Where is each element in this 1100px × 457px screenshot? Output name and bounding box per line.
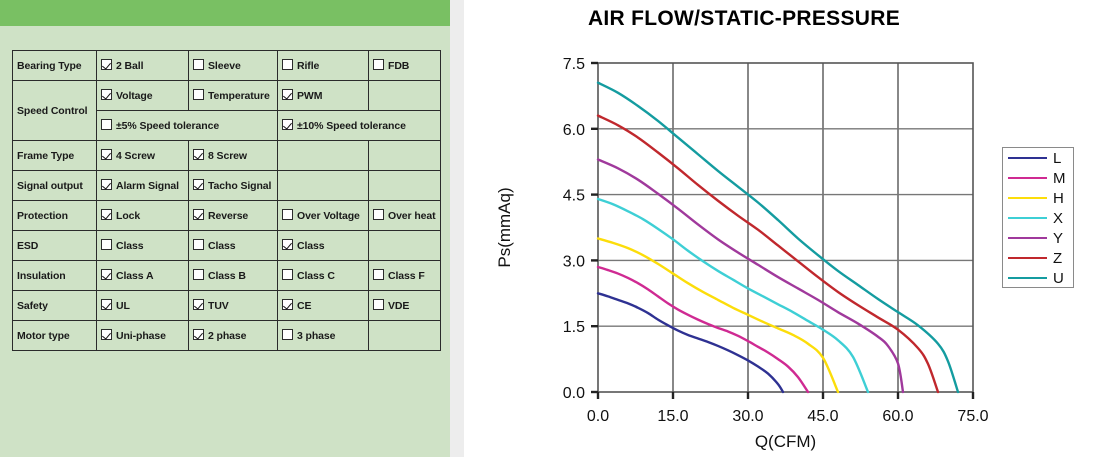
table-row: ESDClassClassClass — [13, 231, 441, 261]
spec-row-label: Insulation — [13, 261, 97, 291]
spec-option-label: 8 Screw — [208, 150, 247, 162]
legend-item-Y: Y — [1003, 228, 1073, 248]
x-tick-label: 45.0 — [807, 408, 838, 425]
y-tick-label: 6.0 — [563, 122, 585, 139]
spec-empty-cell — [369, 321, 441, 351]
spec-option-cell[interactable]: Reverse — [189, 201, 278, 231]
table-row: Bearing Type2 BallSleeveRifleFDB — [13, 51, 441, 81]
series-curve-H — [598, 238, 838, 392]
x-tick-label: 60.0 — [882, 408, 913, 425]
checkbox-checked-icon[interactable] — [282, 239, 293, 250]
spec-option-label: Temperature — [208, 90, 270, 102]
legend-label: H — [1053, 191, 1064, 206]
panel-divider — [450, 0, 464, 457]
spec-option-cell[interactable]: Temperature — [189, 81, 278, 111]
table-row: Speed ControlVoltageTemperaturePWM — [13, 81, 441, 111]
checkbox-checked-icon[interactable] — [282, 119, 293, 130]
y-tick-label: 0.0 — [563, 385, 585, 402]
spec-option-cell[interactable]: Voltage — [97, 81, 189, 111]
spec-option-cell[interactable]: Over heat — [369, 201, 441, 231]
spec-option-cell[interactable]: Over Voltage — [278, 201, 369, 231]
checkbox-checked-icon[interactable] — [282, 299, 293, 310]
spec-option-cell[interactable]: 2 Ball — [97, 51, 189, 81]
spec-option-cell[interactable]: 2 phase — [189, 321, 278, 351]
spec-option-label: Class C — [297, 270, 335, 282]
table-row: InsulationClass AClass BClass CClass F — [13, 261, 441, 291]
checkbox-checked-icon[interactable] — [101, 329, 112, 340]
spec-option-cell[interactable]: UL — [97, 291, 189, 321]
legend-item-M: M — [1003, 168, 1073, 188]
specification-table: Bearing Type2 BallSleeveRifleFDBSpeed Co… — [12, 50, 441, 351]
legend-label: L — [1053, 151, 1061, 166]
spec-option-label: Class F — [388, 270, 425, 282]
spec-option-cell[interactable]: Class — [97, 231, 189, 261]
table-row: Motor typeUni-phase2 phase3 phase — [13, 321, 441, 351]
spec-option-label: Reverse — [208, 210, 248, 222]
y-tick-label: 1.5 — [563, 319, 585, 336]
spec-option-label: TUV — [208, 300, 229, 312]
checkbox-checked-icon[interactable] — [101, 299, 112, 310]
checkbox-checked-icon[interactable] — [193, 209, 204, 220]
legend-line-swatch-icon — [1008, 177, 1047, 179]
chart-legend: LMHXYZU — [1002, 147, 1074, 288]
checkbox-checked-icon[interactable] — [193, 329, 204, 340]
y-axis-tick-labels: 0.01.53.04.56.07.5 — [563, 56, 585, 402]
spec-option-cell[interactable]: Alarm Signal — [97, 171, 189, 201]
chart-panel: AIR FLOW/STATIC-PRESSURE 0.015.030.045.0… — [464, 0, 1100, 457]
spec-option-cell[interactable]: PWM — [278, 81, 369, 111]
legend-item-X: X — [1003, 208, 1073, 228]
spec-option-cell[interactable]: TUV — [189, 291, 278, 321]
spec-row-label: Signal output — [13, 171, 97, 201]
legend-label: Y — [1053, 231, 1063, 246]
legend-item-L: L — [1003, 148, 1073, 168]
spec-option-cell[interactable]: Class C — [278, 261, 369, 291]
spec-row-label: Bearing Type — [13, 51, 97, 81]
spec-option-label: Class — [116, 240, 144, 252]
spec-option-label: 2 Ball — [116, 60, 143, 72]
checkbox-unchecked-icon[interactable] — [282, 329, 293, 340]
checkbox-unchecked-icon[interactable] — [193, 269, 204, 280]
spec-empty-cell — [369, 141, 441, 171]
spec-option-cell[interactable]: FDB — [369, 51, 441, 81]
spec-option-label: VDE — [388, 300, 409, 312]
checkbox-unchecked-icon[interactable] — [193, 89, 204, 100]
spec-option-label: PWM — [297, 90, 322, 102]
table-row: Frame Type4 Screw8 Screw — [13, 141, 441, 171]
spec-option-label: Alarm Signal — [116, 180, 179, 192]
spec-option-cell[interactable]: Sleeve — [189, 51, 278, 81]
spec-empty-cell — [369, 231, 441, 261]
legend-label: U — [1053, 271, 1064, 286]
legend-line-swatch-icon — [1008, 277, 1047, 279]
series-curve-X — [598, 199, 868, 392]
spec-option-label: ±5% Speed tolerance — [116, 120, 219, 132]
checkbox-unchecked-icon[interactable] — [373, 299, 384, 310]
spec-option-label: Sleeve — [208, 60, 241, 72]
checkbox-unchecked-icon[interactable] — [101, 239, 112, 250]
legend-label: X — [1053, 211, 1063, 226]
spec-option-cell[interactable]: Class — [189, 231, 278, 261]
series-curve-M — [598, 267, 808, 392]
spec-empty-cell — [369, 81, 441, 111]
spec-option-cell[interactable]: VDE — [369, 291, 441, 321]
x-axis-title: Q(CFM) — [755, 432, 816, 451]
checkbox-unchecked-icon[interactable] — [193, 239, 204, 250]
legend-label: M — [1053, 171, 1066, 186]
checkbox-unchecked-icon[interactable] — [101, 119, 112, 130]
spec-option-cell[interactable]: 4 Screw — [97, 141, 189, 171]
spec-option-label: Class B — [208, 270, 246, 282]
checkbox-checked-icon[interactable] — [101, 179, 112, 190]
spec-option-cell[interactable]: CE — [278, 291, 369, 321]
spec-row-label: Protection — [13, 201, 97, 231]
spec-option-label: ±10% Speed tolerance — [297, 120, 406, 132]
spec-option-cell[interactable]: ±10% Speed tolerance — [278, 111, 441, 141]
checkbox-unchecked-icon[interactable] — [282, 59, 293, 70]
checkbox-checked-icon[interactable] — [101, 89, 112, 100]
series-curve-L — [598, 293, 783, 392]
spec-option-label: CE — [297, 300, 311, 312]
x-tick-label: 30.0 — [732, 408, 763, 425]
spec-row-label: Frame Type — [13, 141, 97, 171]
checkbox-checked-icon[interactable] — [101, 209, 112, 220]
checkbox-unchecked-icon[interactable] — [282, 269, 293, 280]
table-row: ProtectionLockReverseOver VoltageOver he… — [13, 201, 441, 231]
spec-option-cell[interactable]: ±5% Speed tolerance — [97, 111, 278, 141]
checkbox-checked-icon[interactable] — [193, 179, 204, 190]
spec-option-label: 2 phase — [208, 330, 246, 342]
spec-empty-cell — [278, 171, 369, 201]
spec-empty-cell — [278, 141, 369, 171]
legend-line-swatch-icon — [1008, 257, 1047, 259]
legend-item-Z: Z — [1003, 248, 1073, 268]
spec-option-cell[interactable]: Class B — [189, 261, 278, 291]
spec-empty-cell — [369, 171, 441, 201]
legend-line-swatch-icon — [1008, 237, 1047, 239]
spec-option-cell[interactable]: Tacho Signal — [189, 171, 278, 201]
spec-row-label: Speed Control — [13, 81, 97, 141]
checkbox-unchecked-icon[interactable] — [373, 269, 384, 280]
spec-option-cell[interactable]: Lock — [97, 201, 189, 231]
checkbox-checked-icon[interactable] — [101, 269, 112, 280]
spec-row-label: Motor type — [13, 321, 97, 351]
spec-table-container: Bearing Type2 BallSleeveRifleFDBSpeed Co… — [12, 50, 440, 351]
spec-option-label: 4 Screw — [116, 150, 155, 162]
spec-option-label: FDB — [388, 60, 409, 72]
checkbox-unchecked-icon[interactable] — [193, 59, 204, 70]
x-tick-label: 15.0 — [657, 408, 688, 425]
spec-option-cell[interactable]: Class — [278, 231, 369, 261]
legend-label: Z — [1053, 251, 1062, 266]
spec-option-label: 3 phase — [297, 330, 335, 342]
spec-option-label: Rifle — [297, 60, 319, 72]
spec-option-label: Class — [297, 240, 325, 252]
spec-row-label: Safety — [13, 291, 97, 321]
checkbox-unchecked-icon[interactable] — [282, 209, 293, 220]
legend-line-swatch-icon — [1008, 157, 1047, 159]
x-axis-tick-labels: 0.015.030.045.060.075.0 — [587, 408, 989, 425]
checkbox-checked-icon[interactable] — [193, 149, 204, 160]
checkbox-checked-icon[interactable] — [101, 59, 112, 70]
spec-option-cell[interactable]: Uni-phase — [97, 321, 189, 351]
spec-option-label: Over Voltage — [297, 210, 360, 222]
spec-option-cell[interactable]: Class F — [369, 261, 441, 291]
x-tick-label: 75.0 — [957, 408, 988, 425]
checkbox-checked-icon[interactable] — [282, 89, 293, 100]
checkbox-checked-icon[interactable] — [101, 149, 112, 160]
legend-item-U: U — [1003, 268, 1073, 288]
series-curve-Z — [598, 116, 938, 392]
spec-option-label: Voltage — [116, 90, 152, 102]
spec-option-cell[interactable]: Rifle — [278, 51, 369, 81]
y-tick-label: 4.5 — [563, 188, 585, 205]
y-axis-title: Ps(mmAq) — [495, 187, 514, 267]
y-tick-label: 3.0 — [563, 253, 585, 270]
checkbox-unchecked-icon[interactable] — [373, 59, 384, 70]
x-tick-label: 0.0 — [587, 408, 609, 425]
spec-option-label: Class A — [116, 270, 153, 282]
spec-option-label: Tacho Signal — [208, 180, 271, 192]
legend-line-swatch-icon — [1008, 217, 1047, 219]
spec-option-cell[interactable]: 8 Screw — [189, 141, 278, 171]
legend-line-swatch-icon — [1008, 197, 1047, 199]
legend-item-H: H — [1003, 188, 1073, 208]
checkbox-unchecked-icon[interactable] — [373, 209, 384, 220]
spec-option-label: UL — [116, 300, 130, 312]
spec-option-label: Lock — [116, 210, 140, 222]
specification-panel: Bearing Type2 BallSleeveRifleFDBSpeed Co… — [0, 0, 450, 457]
y-tick-label: 7.5 — [563, 56, 585, 73]
spec-row-label: ESD — [13, 231, 97, 261]
spec-option-label: Over heat — [388, 210, 436, 222]
spec-option-label: Uni-phase — [116, 330, 166, 342]
table-row: Signal outputAlarm SignalTacho Signal — [13, 171, 441, 201]
spec-option-cell[interactable]: Class A — [97, 261, 189, 291]
panel-header-bar — [0, 0, 450, 26]
table-row: SafetyULTUVCEVDE — [13, 291, 441, 321]
spec-option-label: Class — [208, 240, 236, 252]
checkbox-checked-icon[interactable] — [193, 299, 204, 310]
spec-option-cell[interactable]: 3 phase — [278, 321, 369, 351]
